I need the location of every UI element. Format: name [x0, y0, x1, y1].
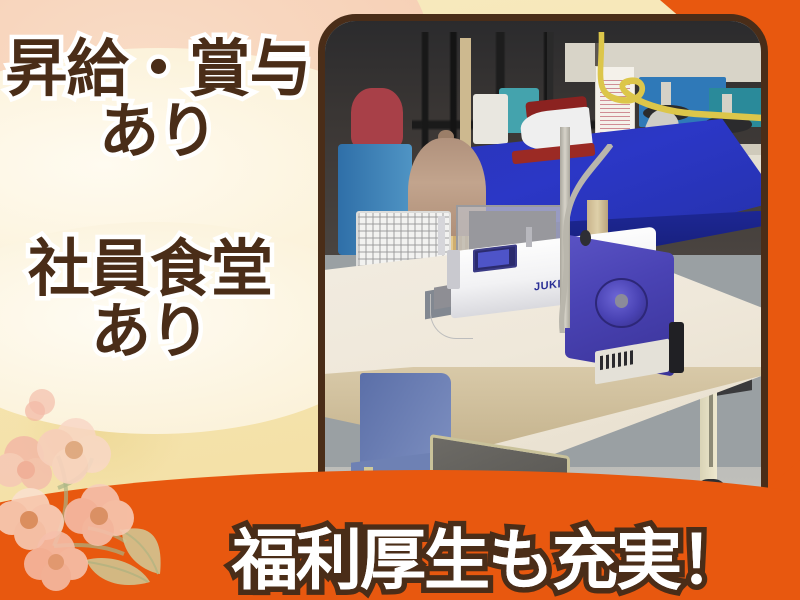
headline-2-line-1: 社員食堂	[0, 238, 300, 301]
headline-cafeteria: 社員食堂 あり	[0, 238, 300, 362]
photo-needle-bar	[447, 250, 460, 289]
headline-1-line-2: あり	[0, 101, 316, 162]
headline-salary-bonus: 昇給・賞与 あり	[0, 38, 316, 162]
headline-1-line-1: 昇給・賞与	[0, 38, 316, 101]
photo-machine-upright	[438, 216, 445, 255]
photo-screwdriver	[669, 322, 684, 372]
cherry-blossom-icon	[0, 378, 216, 600]
photo-flexible-hose	[552, 144, 622, 334]
banner-canvas: JUKI	[0, 0, 800, 600]
bottom-banner-text: 福利厚生も充実！	[232, 507, 792, 600]
photo-red-bag	[351, 88, 403, 149]
headline-2-line-2: あり	[0, 301, 300, 362]
photo-spool-pin	[526, 227, 532, 247]
photo-white-container	[473, 94, 508, 144]
